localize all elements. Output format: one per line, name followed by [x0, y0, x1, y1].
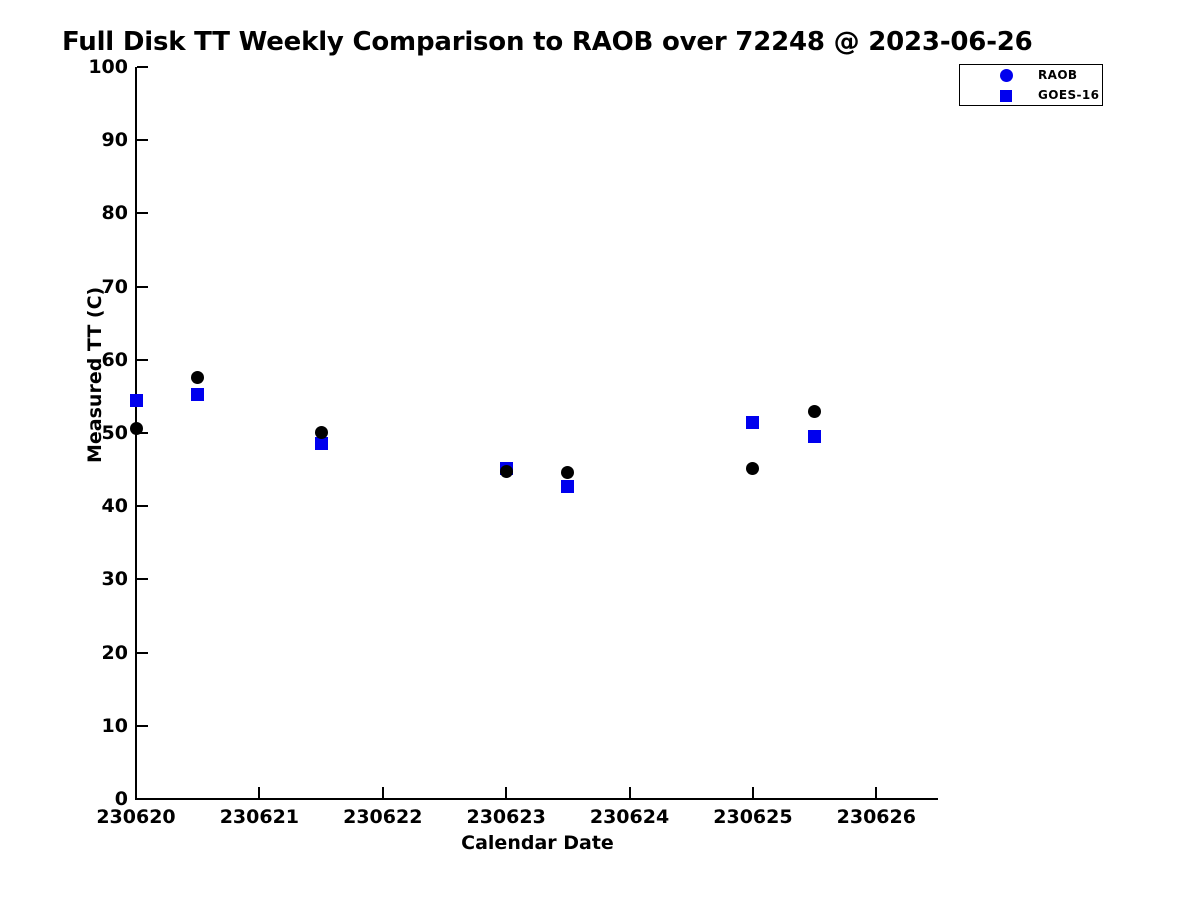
- y-axis-tick-label: 20: [58, 642, 128, 664]
- x-axis-tick-label: 230625: [683, 806, 823, 828]
- y-axis-tick-label: 30: [58, 568, 128, 590]
- x-axis-tick-label: 230620: [66, 806, 206, 828]
- legend-label: RAOB: [1038, 68, 1077, 82]
- y-axis-tick-label: 40: [58, 495, 128, 517]
- data-point-raob: [561, 466, 574, 479]
- y-axis-tick-label: 10: [58, 715, 128, 737]
- x-axis-tick-label: 230626: [806, 806, 946, 828]
- data-point-goes-16: [191, 388, 204, 401]
- data-point-raob: [130, 422, 143, 435]
- data-point-raob: [315, 426, 328, 439]
- data-point-goes-16: [746, 416, 759, 429]
- x-axis-tick-label: 230623: [436, 806, 576, 828]
- chart-title: Full Disk TT Weekly Comparison to RAOB o…: [62, 27, 1033, 57]
- data-point-goes-16: [315, 437, 328, 450]
- x-axis-tick-label: 230621: [189, 806, 329, 828]
- legend: RAOBGOES-16: [959, 64, 1103, 106]
- data-point-raob: [746, 462, 759, 475]
- data-point-raob: [808, 405, 821, 418]
- legend-item-raob[interactable]: RAOB: [960, 66, 1104, 87]
- y-axis-tick-label: 80: [58, 202, 128, 224]
- x-axis-tick-label: 230624: [560, 806, 700, 828]
- y-axis-tick-label: 90: [58, 129, 128, 151]
- x-axis-label: Calendar Date: [0, 832, 1075, 854]
- legend-item-goes-16[interactable]: GOES-16: [960, 86, 1104, 107]
- legend-label: GOES-16: [1038, 88, 1099, 102]
- data-point-goes-16: [808, 430, 821, 443]
- data-point-raob: [191, 371, 204, 384]
- chart-figure: Full Disk TT Weekly Comparison to RAOB o…: [0, 0, 1200, 900]
- data-point-goes-16: [561, 480, 574, 493]
- x-axis-tick-label: 230622: [313, 806, 453, 828]
- data-point-goes-16: [130, 394, 143, 407]
- y-axis-label: Measured TT (C): [84, 287, 106, 463]
- y-axis-tick-label: 100: [58, 56, 128, 78]
- legend-marker-circle-icon: [1000, 69, 1013, 82]
- plot-area: Measured TT (C): [136, 67, 938, 799]
- data-point-raob: [500, 465, 513, 478]
- legend-marker-square-icon: [1000, 90, 1012, 102]
